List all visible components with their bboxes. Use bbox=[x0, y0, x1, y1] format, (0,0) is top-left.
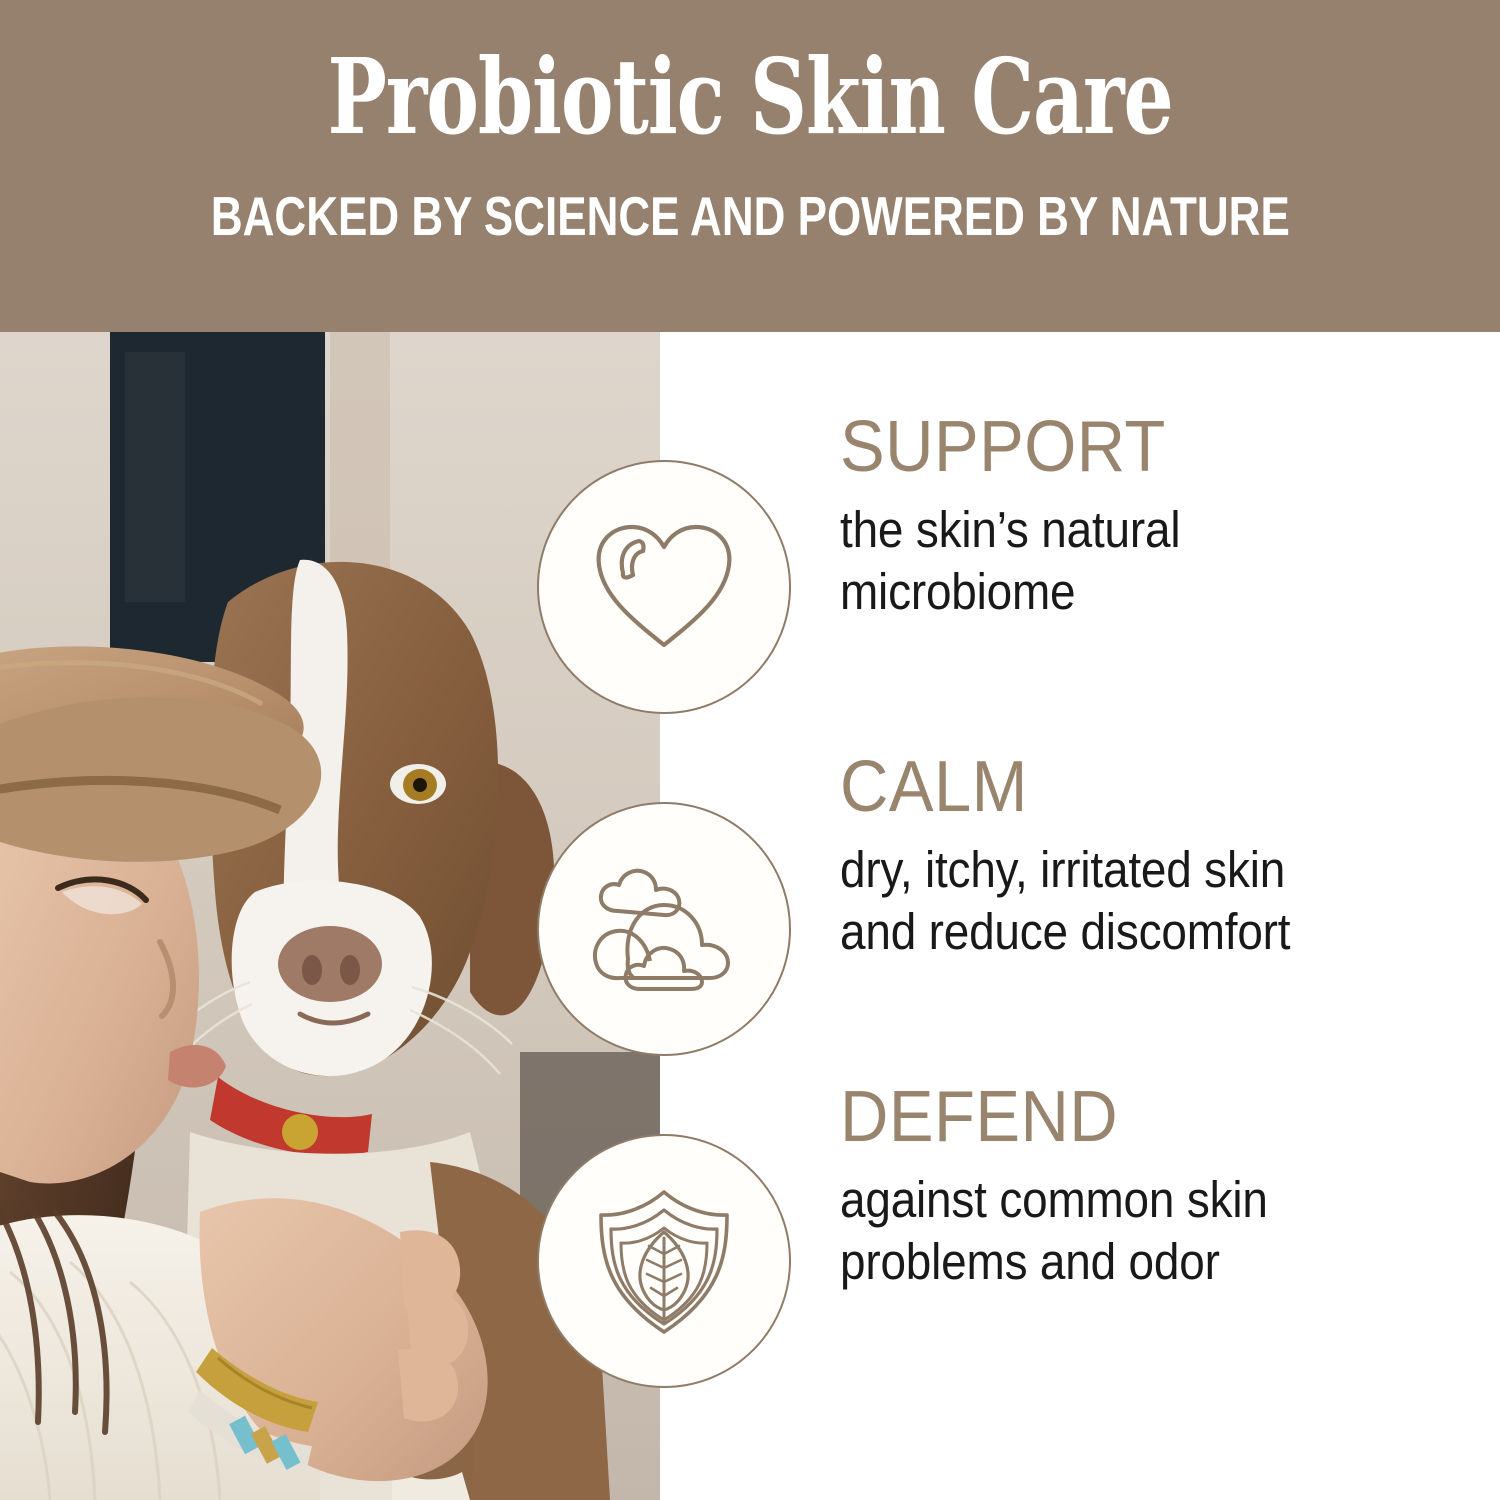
feature-title-calm: CALM bbox=[840, 752, 1454, 823]
feature-text-support: SUPPORT the skin’s natural microbiome bbox=[840, 412, 1500, 623]
page-title: Probiotic Skin Care bbox=[327, 44, 1172, 150]
feature-body-calm: dry, itchy, irritated skin and reduce di… bbox=[840, 839, 1434, 963]
feature-text-defend: DEFEND against common skin problems and … bbox=[840, 1082, 1500, 1293]
feature-body-defend: against common skin problems and odor bbox=[840, 1169, 1434, 1293]
clouds-icon-badge bbox=[537, 802, 791, 1056]
feature-body-support: the skin’s natural microbiome bbox=[840, 499, 1434, 623]
feature-list: SUPPORT the skin’s natural microbiome bbox=[660, 332, 1500, 1500]
heart-icon-badge bbox=[537, 460, 791, 714]
heart-icon bbox=[589, 517, 739, 657]
feature-title-support: SUPPORT bbox=[840, 412, 1454, 483]
shield-leaf-icon bbox=[589, 1184, 739, 1339]
feature-text-calm: CALM dry, itchy, irritated skin and redu… bbox=[840, 752, 1500, 963]
feature-title-defend: DEFEND bbox=[840, 1082, 1454, 1153]
shield-leaf-icon-badge bbox=[537, 1134, 791, 1388]
page-subtitle: BACKED BY SCIENCE AND POWERED BY NATURE bbox=[211, 184, 1290, 248]
clouds-icon bbox=[584, 859, 744, 999]
probiotic-skin-care-poster: Probiotic Skin Care BACKED BY SCIENCE AN… bbox=[0, 0, 1500, 1500]
header-band: Probiotic Skin Care BACKED BY SCIENCE AN… bbox=[0, 0, 1500, 332]
